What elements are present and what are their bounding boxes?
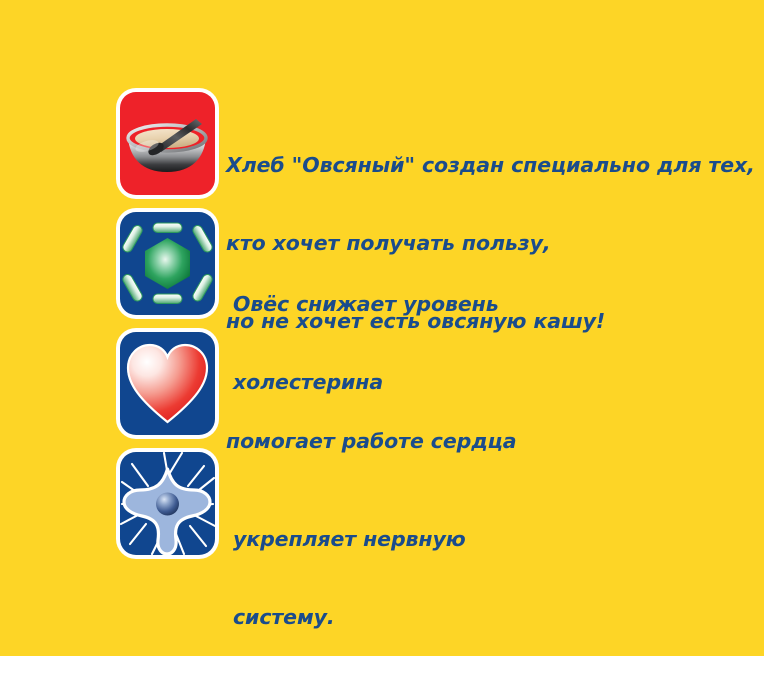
porridge-bowl-icon [120, 92, 215, 195]
heart-icon [120, 332, 215, 435]
icon-tile-heart-wrap [116, 328, 219, 439]
capsule-top-right [191, 224, 214, 254]
text-line: укрепляет нервную [233, 526, 764, 552]
capsule-top-left [121, 224, 144, 254]
icon-tile-cholesterol [116, 208, 219, 319]
cholesterol-molecule-icon [120, 212, 215, 315]
text-line: Хлеб "Овсяный" создан специально для тех… [226, 152, 764, 178]
text-line: систему. [233, 604, 764, 630]
neuron-nerve-cell-icon [120, 452, 215, 555]
benefit-row-neuron: укрепляет нервную систему. [0, 448, 764, 682]
capsule-top [153, 223, 182, 233]
capsule-bottom-left [121, 273, 144, 303]
molecule-core [145, 238, 190, 289]
icon-tile-cholesterol-wrap [116, 208, 219, 319]
icon-tile-porridge [116, 88, 219, 199]
capsule-bottom [153, 294, 182, 304]
oat-bread-benefits-poster: Хлеб "Овсяный" создан специально для тех… [0, 0, 764, 656]
text-line: Овёс снижает уровень [233, 291, 764, 317]
icon-tile-porridge-wrap [116, 88, 219, 199]
icon-tile-heart [116, 328, 219, 439]
icon-tile-neuron [116, 448, 219, 559]
neuron-nucleus [156, 493, 179, 516]
benefit-text-neuron: укрепляет нервную систему. [233, 474, 764, 682]
icon-tile-neuron-wrap [116, 448, 219, 559]
heart-shape [128, 345, 207, 422]
capsule-bottom-right [191, 273, 214, 303]
